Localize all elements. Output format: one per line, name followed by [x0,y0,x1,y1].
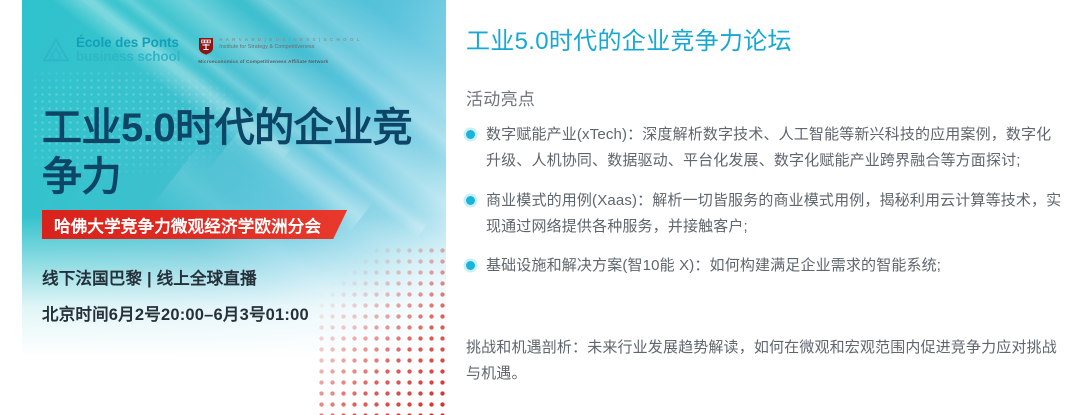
harvard-logo-row: H A R V A R D | B U S I N E S S | S C H … [198,37,360,55]
harvard-business-school-logo: H A R V A R D | B U S I N E S S | S C H … [198,36,360,65]
ecole-des-ponts-logo: École des Ponts business school [42,36,180,64]
poster-red-ribbon: 哈佛大学竞争力微观经济学欧洲分会 [42,210,347,239]
highlights-list: 数字赋能产业(xTech)：深度解析数字技术、人工智能等新兴科技的应用案例，数字… [466,122,1066,292]
poster-content: École des Ponts business school [22,0,446,415]
harvard-affiliate-network-label: Microeconomics of Competitiveness Affili… [198,60,360,65]
article-section-heading: 活动亮点 [466,85,535,110]
article-closing-paragraph: 挑战和机遇剖析：未来行业发展趋势解读，如何在微观和宏观范围内促进竞争力应对挑战与… [466,335,1066,388]
bullet-dot-icon [466,261,475,270]
ecole-logo-line1: École des Ponts [76,36,180,50]
page-root: École des Ponts business school [0,0,1080,415]
poster-venue-line: 线下法国巴黎 | 线上全球直播 [42,265,257,289]
triangle-fractal-icon [42,37,70,63]
list-item-text: 数字赋能产业(xTech)：深度解析数字技术、人工智能等新兴科技的应用案例，数字… [486,122,1066,175]
event-poster: École des Ponts business school [22,0,446,415]
list-item-text: 基础设施和解决方案(智10能 X)：如何构建满足企业需求的智能系统; [486,253,941,279]
bullet-dot-icon [466,196,475,205]
poster-time-line: 北京时间6月2号20:00–6月3号01:00 [42,301,309,325]
article-title: 工业5.0时代的企业竞争力论坛 [466,28,792,57]
harvard-shield-icon [198,37,214,55]
list-item: 数字赋能产业(xTech)：深度解析数字技术、人工智能等新兴科技的应用案例，数字… [466,122,1066,175]
harvard-logo-text: H A R V A R D | B U S I N E S S | S C H … [219,37,360,50]
list-item: 商业模式的用例(Xaas)：解析一切皆服务的商业模式用例，揭秘利用云计算等技术，… [466,188,1066,241]
ecole-logo-line2: business school [76,50,180,64]
bullet-dot-icon [466,130,475,139]
harvard-logo-title: H A R V A R D | B U S I N E S S | S C H … [219,37,360,42]
poster-ribbon-label: 哈佛大学竞争力微观经济学欧洲分会 [54,213,321,237]
harvard-logo-subtitle: Institute for Strategy & Competitiveness [219,44,360,50]
list-item: 基础设施和解决方案(智10能 X)：如何构建满足企业需求的智能系统; [466,253,1066,279]
list-item-text: 商业模式的用例(Xaas)：解析一切皆服务的商业模式用例，揭秘利用云计算等技术，… [486,188,1066,241]
poster-headline: 工业5.0时代的企业竞争力 [42,104,442,202]
ecole-des-ponts-wordmark: École des Ponts business school [76,36,180,64]
poster-logos: École des Ponts business school [42,36,361,65]
article-content: 工业5.0时代的企业竞争力论坛 活动亮点 数字赋能产业(xTech)：深度解析数… [466,0,1066,415]
